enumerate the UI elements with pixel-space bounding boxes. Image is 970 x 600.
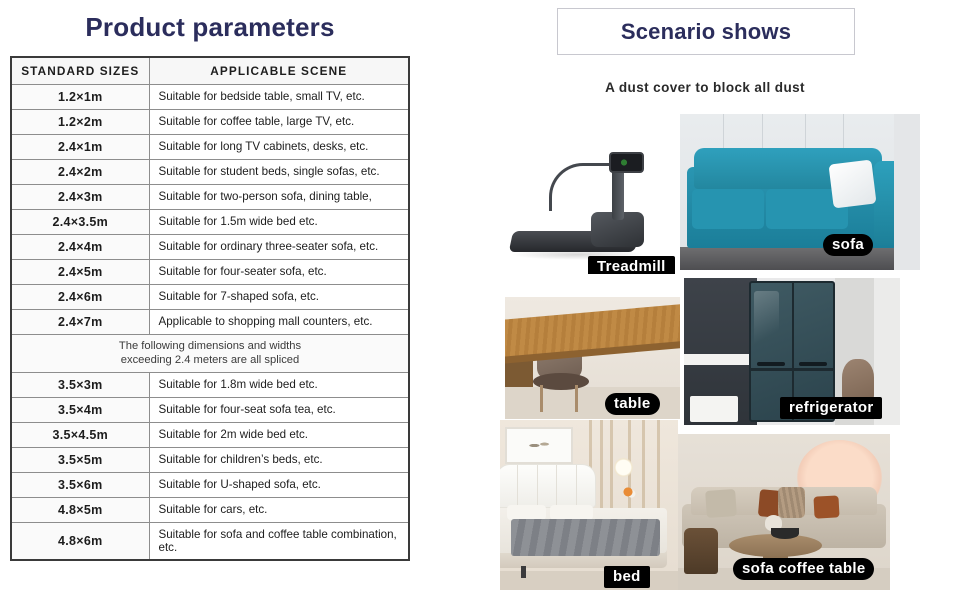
cell-applicable-scene: Suitable for 1.8m wide bed etc. — [149, 372, 409, 397]
caption-table: table — [605, 393, 660, 415]
cell-applicable-scene: Suitable for long TV cabinets, desks, et… — [149, 135, 409, 160]
cell-applicable-scene: Suitable for four-seat sofa tea, etc. — [149, 397, 409, 422]
cell-applicable-scene: Suitable for children’s beds, etc. — [149, 447, 409, 472]
cell-applicable-scene: Suitable for sofa and coffee table combi… — [149, 522, 409, 560]
cell-applicable-scene: Suitable for U-shaped sofa, etc. — [149, 472, 409, 497]
caption-sofa: sofa — [823, 234, 873, 256]
cell-standard-size: 1.2×2m — [11, 110, 149, 135]
table-row: 3.5×6mSuitable for U-shaped sofa, etc. — [11, 472, 409, 497]
cell-applicable-scene: Suitable for four-seater sofa, etc. — [149, 260, 409, 285]
column-header-applicable-scene: APPLICABLE SCENE — [149, 57, 409, 85]
table-row: 2.4×3mSuitable for two-person sofa, dini… — [11, 185, 409, 210]
treadmill-illustration — [500, 116, 675, 274]
column-header-standard-sizes: STANDARD SIZES — [11, 57, 149, 85]
table-row: 1.2×1mSuitable for bedside table, small … — [11, 85, 409, 110]
cell-applicable-scene: Suitable for student beds, single sofas,… — [149, 160, 409, 185]
table-row: 2.4×1mSuitable for long TV cabinets, des… — [11, 135, 409, 160]
table-row: 2.4×7mApplicable to shopping mall counte… — [11, 310, 409, 335]
cell-standard-size: 1.2×1m — [11, 85, 149, 110]
cell-applicable-scene: Suitable for bedside table, small TV, et… — [149, 85, 409, 110]
table-note-text: The following dimensions and widthsexcee… — [11, 335, 409, 373]
table-row: 1.2×2mSuitable for coffee table, large T… — [11, 110, 409, 135]
cell-standard-size: 4.8×6m — [11, 522, 149, 560]
table-row: 4.8×6mSuitable for sofa and coffee table… — [11, 522, 409, 560]
photo-table: table — [505, 297, 680, 419]
table-row: 3.5×3mSuitable for 1.8m wide bed etc. — [11, 372, 409, 397]
table-row: 2.4×6mSuitable for 7-shaped sofa, etc. — [11, 285, 409, 310]
page-title: Product parameters — [0, 12, 420, 43]
cell-applicable-scene: Suitable for two-person sofa, dining tab… — [149, 185, 409, 210]
table-row: 2.4×5mSuitable for four-seater sofa, etc… — [11, 260, 409, 285]
cell-standard-size: 2.4×1m — [11, 135, 149, 160]
cell-standard-size: 3.5×4m — [11, 397, 149, 422]
scenario-subtitle: A dust cover to block all dust — [470, 80, 940, 95]
table-header-row: STANDARD SIZES APPLICABLE SCENE — [11, 57, 409, 85]
table-row: 2.4×2mSuitable for student beds, single … — [11, 160, 409, 185]
cell-applicable-scene: Suitable for ordinary three-seater sofa,… — [149, 235, 409, 260]
photo-sofa: sofa — [680, 114, 920, 270]
table-row: 2.4×4mSuitable for ordinary three-seater… — [11, 235, 409, 260]
cell-standard-size: 2.4×4m — [11, 235, 149, 260]
cell-standard-size: 2.4×2m — [11, 160, 149, 185]
sofa-illustration — [680, 114, 920, 270]
cell-standard-size: 4.8×5m — [11, 497, 149, 522]
cell-standard-size: 3.5×4.5m — [11, 422, 149, 447]
cell-standard-size: 3.5×5m — [11, 447, 149, 472]
scenario-title-box: Scenario shows — [557, 8, 855, 55]
caption-sofa-coffee-table: sofa coffee table — [733, 558, 874, 580]
cell-applicable-scene: Suitable for cars, etc. — [149, 497, 409, 522]
photo-sofa-coffee-table: sofa coffee table — [678, 434, 890, 590]
cell-standard-size: 2.4×7m — [11, 310, 149, 335]
cell-applicable-scene: Suitable for 1.5m wide bed etc. — [149, 210, 409, 235]
scenario-title: Scenario shows — [621, 19, 791, 45]
table-row: 3.5×4mSuitable for four-seat sofa tea, e… — [11, 397, 409, 422]
photo-treadmill: Treadmill — [500, 116, 675, 274]
table-row: 3.5×5mSuitable for children’s beds, etc. — [11, 447, 409, 472]
cell-standard-size: 2.4×3m — [11, 185, 149, 210]
cell-applicable-scene: Suitable for 2m wide bed etc. — [149, 422, 409, 447]
caption-treadmill: Treadmill — [588, 256, 675, 274]
cell-standard-size: 3.5×6m — [11, 472, 149, 497]
cell-applicable-scene: Suitable for coffee table, large TV, etc… — [149, 110, 409, 135]
photo-refrigerator: refrigerator — [684, 278, 900, 425]
cell-standard-size: 2.4×6m — [11, 285, 149, 310]
cell-standard-size: 2.4×5m — [11, 260, 149, 285]
cell-applicable-scene: Suitable for 7-shaped sofa, etc. — [149, 285, 409, 310]
product-parameters-panel: Product parameters STANDARD SIZES APPLIC… — [0, 0, 470, 600]
specifications-table: STANDARD SIZES APPLICABLE SCENE 1.2×1mSu… — [10, 56, 410, 561]
scenario-shows-panel: Scenario shows A dust cover to block all… — [470, 0, 970, 600]
bed-illustration — [500, 420, 678, 590]
table-row: 2.4×3.5mSuitable for 1.5m wide bed etc. — [11, 210, 409, 235]
cell-standard-size: 3.5×3m — [11, 372, 149, 397]
cell-standard-size: 2.4×3.5m — [11, 210, 149, 235]
table-row: 4.8×5mSuitable for cars, etc. — [11, 497, 409, 522]
caption-refrigerator: refrigerator — [780, 397, 882, 419]
photo-bed: bed — [500, 420, 678, 590]
cell-applicable-scene: Applicable to shopping mall counters, et… — [149, 310, 409, 335]
table-row: 3.5×4.5mSuitable for 2m wide bed etc. — [11, 422, 409, 447]
caption-bed: bed — [604, 566, 650, 588]
table-note-row: The following dimensions and widthsexcee… — [11, 335, 409, 373]
